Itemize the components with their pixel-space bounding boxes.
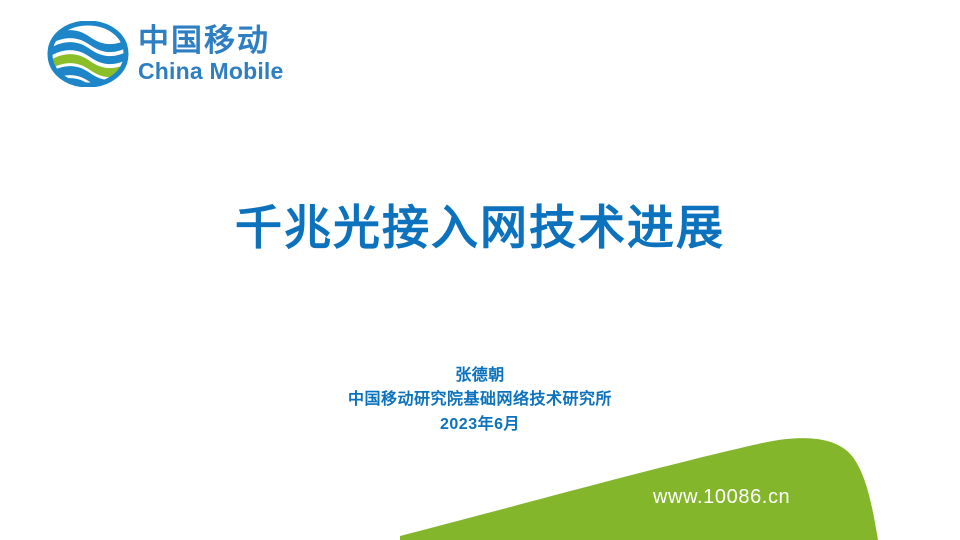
presenter-info: 张德朝 中国移动研究院基础网络技术研究所 2023年6月 bbox=[0, 364, 960, 437]
slide-title: 千兆光接入网技术进展 bbox=[0, 200, 960, 255]
footer-website-url: www.10086.cn bbox=[653, 486, 790, 509]
presenter-name: 张德朝 bbox=[0, 364, 960, 388]
presentation-slide: 中国移动 China Mobile 千兆光接入网技术进展 张德朝 中国移动研究院… bbox=[0, 0, 960, 540]
brand-name-en: China Mobile bbox=[138, 60, 284, 83]
presentation-date: 2023年6月 bbox=[0, 413, 960, 437]
brand-wordmark: 中国移动 China Mobile bbox=[138, 25, 284, 83]
china-mobile-logo-mark-icon bbox=[46, 21, 130, 87]
presenter-affiliation: 中国移动研究院基础网络技术研究所 bbox=[0, 388, 960, 412]
brand-name-cn: 中国移动 bbox=[138, 25, 284, 56]
brand-logo: 中国移动 China Mobile bbox=[46, 18, 306, 90]
